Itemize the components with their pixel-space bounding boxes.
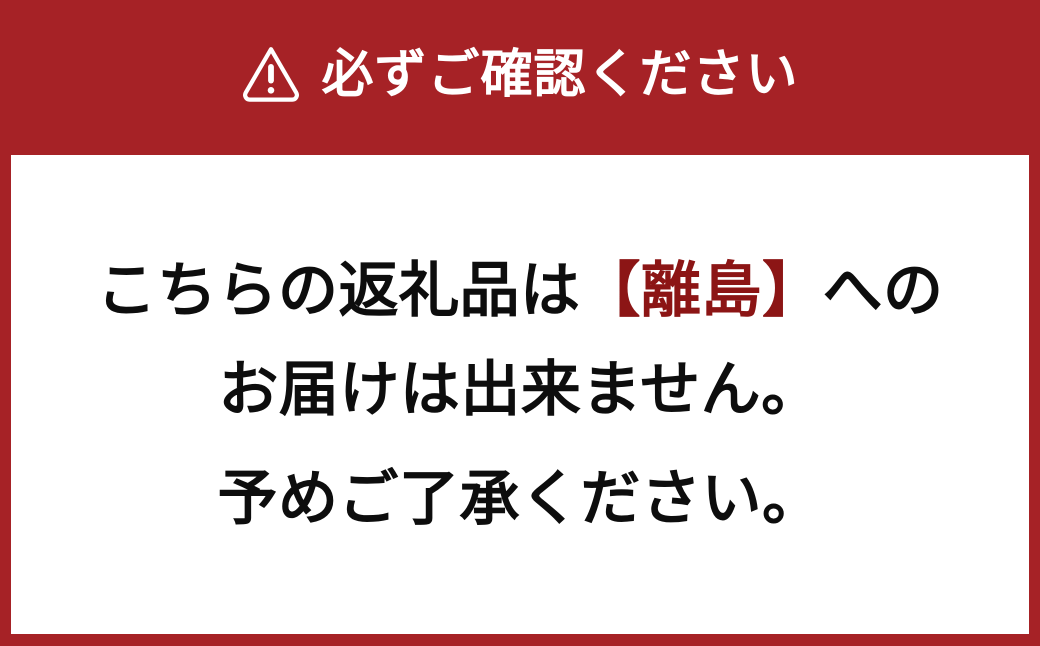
notice-line-2: お届けは出来ません。 [11,341,1029,438]
banner-header: 必ずご確認ください [0,0,1040,155]
notice-line-1-emphasis: 【離島】 [581,257,823,324]
header-title: 必ずご確認ください [321,49,798,101]
notice-body: こちらの返礼品は【離島】への お届けは出来ません。 予めご了承ください。 [11,242,1029,548]
notice-line-1-prefix: こちらの返礼品は [97,257,581,324]
notice-line-1: こちらの返礼品は【離島】への [11,242,1029,339]
notice-banner: 必ずご確認ください こちらの返礼品は【離島】への お届けは出来ません。 予めご了… [0,0,1040,646]
notice-line-3: 予めご了承ください。 [11,450,1029,547]
notice-card: こちらの返礼品は【離島】への お届けは出来ません。 予めご了承ください。 [11,155,1029,634]
notice-line-1-suffix: への [823,257,944,324]
warning-triangle-icon [241,47,301,103]
